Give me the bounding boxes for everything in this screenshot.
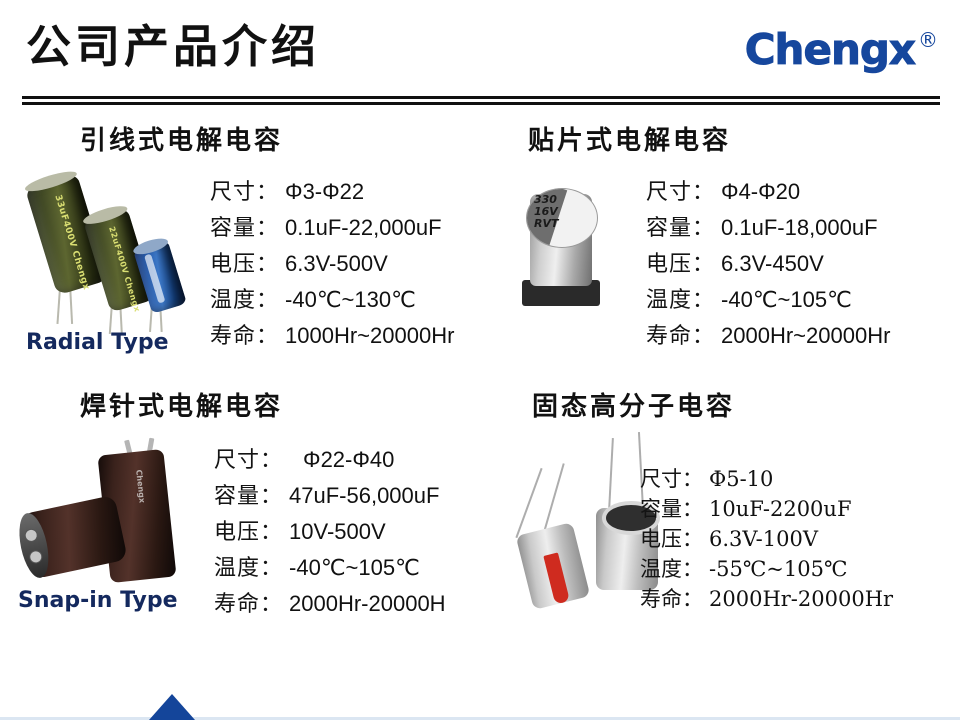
registered-trademark-icon: ® [918,28,938,52]
spec-value: 0.1uF-22,000uF [285,210,454,246]
capacitor-marking: 33uF400V Chengx [52,194,91,292]
smd-capacitor-photo: 330 16V RVT [512,188,622,323]
spec-table-snapin: 尺寸： Φ22-Φ40 容量： 47uF-56,000uF 电压： 10V-50… [214,442,446,622]
product-block-smd: 贴片式电解电容 330 16V RVT 尺寸： Φ4-Φ20 容量： 0.1uF… [498,126,958,376]
product-block-polymer: 固态高分子电容 尺寸： Φ5-10 容量： 10uF-2200uF 电压： 6.… [498,392,958,642]
spec-value: 2000Hr~20000Hr [721,318,890,354]
spec-row: 容量： 47uF-56,000uF [214,478,446,514]
spec-value: Φ4-Φ20 [721,174,890,210]
spec-row: 温度： -55℃~105℃ [640,554,893,584]
spec-row: 尺寸： Φ4-Φ20 [646,174,890,210]
capacitor-lead [608,438,614,510]
spec-label: 尺寸： [210,174,285,210]
spec-label: 电压： [210,246,285,282]
spec-label: 容量： [646,210,721,246]
spec-value: 10uF-2200uF [709,494,893,524]
capacitor-marking: 330 16V RVT [534,194,559,230]
spec-label: 电压： [646,246,721,282]
spec-row: 电压： 10V-500V [214,514,446,550]
capacitor-top [23,168,78,195]
capacitor-stripe [144,254,165,304]
brand-wordmark: Chengx [745,30,915,70]
spec-value: Φ5-10 [709,464,893,494]
spec-value: -40℃~105℃ [721,282,890,318]
spec-label: 寿命： [210,318,285,354]
snap-in-capacitors-photo: Chengx [22,448,202,598]
spec-label: 容量： [210,210,285,246]
spec-value: 6.3V-450V [721,246,890,282]
spec-label: 容量： [640,494,709,524]
spec-row: 温度： -40℃~105℃ [646,282,890,318]
spec-label: 温度： [210,282,285,318]
radial-capacitors-photo: 33uF400V Chengx 22uF400V Chengx [24,172,204,332]
capacitor-body [516,522,591,610]
page-title: 公司产品介绍 [26,24,320,69]
spec-value: -55℃~105℃ [709,554,893,584]
product-caption-radial: Radial Type [26,330,169,355]
capacitor-marking-line: RVT [534,218,559,230]
product-block-snapin: 焊针式电解电容 Chengx 尺寸： Φ22-Φ40 容量： 47uF-56,0… [18,392,488,642]
slide-header: 公司产品介绍 Chengx ® [0,0,960,100]
spec-label: 温度： [640,554,709,584]
spec-row: 电压： 6.3V-100V [640,524,893,554]
spec-value: 10V-500V [289,514,446,550]
spec-row: 寿命： 2000Hr~20000Hr [646,318,890,354]
spec-value: 2000Hr-20000H [289,586,446,622]
spec-table-smd: 尺寸： Φ4-Φ20 容量： 0.1uF-18,000uF 电压： 6.3V-4… [646,174,890,354]
product-title-radial: 引线式电解电容 [80,126,283,157]
spec-row: 尺寸： Φ22-Φ40 [214,442,446,478]
header-divider [22,96,940,105]
capacitor-polarity-stripe [543,552,570,604]
spec-row: 寿命： 1000Hr~20000Hr [210,318,454,354]
product-block-radial: 引线式电解电容 33uF400V Chengx 22uF400V Chengx … [18,126,488,376]
capacitor-terminal [28,549,43,564]
spec-value: 6.3V-500V [285,246,454,282]
spec-value: Φ3-Φ22 [285,174,454,210]
spec-label: 寿命： [214,586,289,622]
footer-triangle-marker [149,694,195,720]
spec-label: 温度： [646,282,721,318]
spec-table-polymer: 尺寸： Φ5-10 容量： 10uF-2200uF 电压： 6.3V-100V … [640,464,893,614]
spec-row: 尺寸： Φ3-Φ22 [210,174,454,210]
spec-value: Φ22-Φ40 [289,442,446,478]
product-title-snapin: 焊针式电解电容 [80,392,283,423]
spec-label: 温度： [214,550,289,586]
spec-table-radial: 尺寸： Φ3-Φ22 容量： 0.1uF-22,000uF 电压： 6.3V-5… [210,174,454,354]
spec-row: 电压： 6.3V-500V [210,246,454,282]
spec-label: 尺寸： [214,442,289,478]
product-title-smd: 贴片式电解电容 [528,126,731,157]
spec-row: 电压： 6.3V-450V [646,246,890,282]
spec-value: 2000Hr-20000Hr [709,584,893,614]
spec-label: 尺寸： [646,174,721,210]
spec-row: 尺寸： Φ5-10 [640,464,893,494]
spec-row: 容量： 0.1uF-18,000uF [646,210,890,246]
spec-label: 电压： [214,514,289,550]
product-caption-snapin: Snap-in Type [18,588,178,613]
brand-logo: Chengx ® [745,30,938,70]
header-divider-line-bottom [22,102,940,105]
spec-value: -40℃~130℃ [285,282,454,318]
product-title-polymer: 固态高分子电容 [532,392,735,423]
spec-row: 温度： -40℃~130℃ [210,282,454,318]
spec-row: 寿命： 2000Hr-20000H [214,586,446,622]
header-divider-line-top [22,96,940,99]
spec-value: -40℃~105℃ [289,550,446,586]
spec-value: 1000Hr~20000Hr [285,318,454,354]
spec-value: 6.3V-100V [709,524,893,554]
spec-label: 容量： [214,478,289,514]
spec-label: 电压： [640,524,709,554]
capacitor-top [82,203,129,228]
capacitor-terminal [24,528,39,543]
spec-value: 0.1uF-18,000uF [721,210,890,246]
capacitor-marking: 22uF400V Chengx [107,225,142,313]
spec-row: 温度： -40℃~105℃ [214,550,446,586]
spec-label: 尺寸： [640,464,709,494]
capacitor-marking: Chengx [134,469,146,503]
spec-label: 寿命： [646,318,721,354]
capacitor-lead [515,468,542,538]
spec-row: 寿命： 2000Hr-20000Hr [640,584,893,614]
spec-value: 47uF-56,000uF [289,478,446,514]
capacitor-terminal-face [14,511,53,581]
spec-label: 寿命： [640,584,709,614]
spec-row: 容量： 0.1uF-22,000uF [210,210,454,246]
spec-row: 容量： 10uF-2200uF [640,494,893,524]
